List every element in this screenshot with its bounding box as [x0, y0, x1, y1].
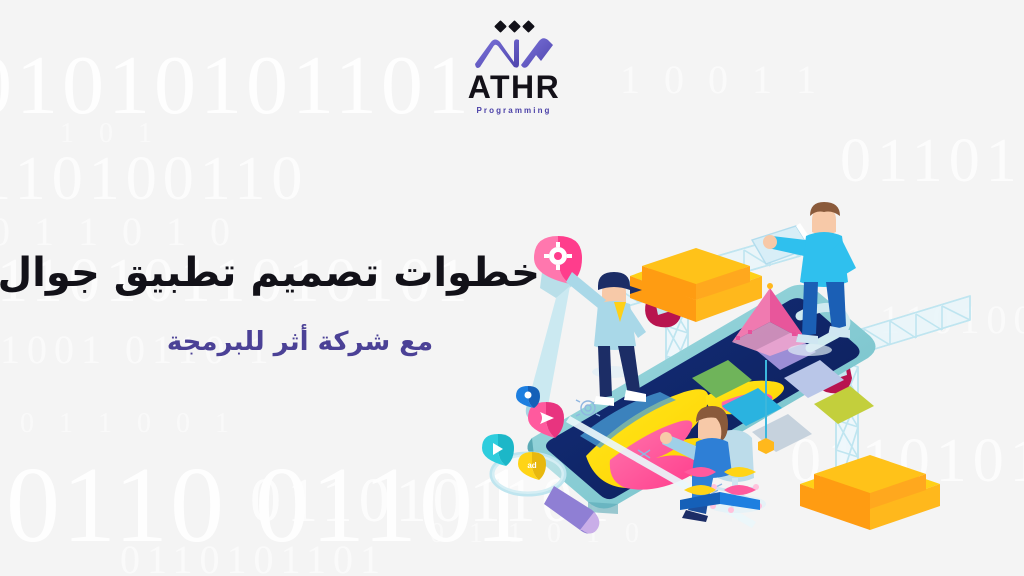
svg-text:ad: ad	[527, 461, 536, 470]
watermark-row: 0110101101	[120, 540, 387, 576]
worker-with-wrench-icon	[526, 236, 646, 420]
watermark-row: 1 0 1	[60, 120, 161, 148]
page-subtitle: مع شركة أثر للبرمجة	[60, 326, 540, 360]
watermark-row: 110100110	[0, 148, 308, 210]
illustration-svg: ad	[470, 60, 1024, 576]
watermark-row: 0 1 1 0 0 1	[20, 410, 238, 438]
watermark-row: 01010101101	[0, 44, 473, 128]
page-title: خطوات تصميم تطبيق جوال	[60, 248, 540, 298]
diamond-icon	[494, 20, 507, 33]
logo-diamonds	[455, 22, 573, 31]
banner-canvas: 01010101101 1 0 1 110100110 0 1 1 0 1 0 …	[0, 0, 1024, 576]
blue-bubble-icon	[516, 386, 540, 408]
play-bubble-icon	[482, 434, 514, 466]
watermark-row: 0 1 1 0 1 0	[0, 212, 237, 252]
watermark-row: 10110 01101	[0, 452, 531, 560]
diamond-icon	[522, 20, 535, 33]
diamond-icon	[508, 20, 521, 33]
headline-block: خطوات تصميم تطبيق جوال مع شركة أثر للبرم…	[60, 248, 540, 360]
isometric-illustration: ad	[470, 60, 1024, 576]
